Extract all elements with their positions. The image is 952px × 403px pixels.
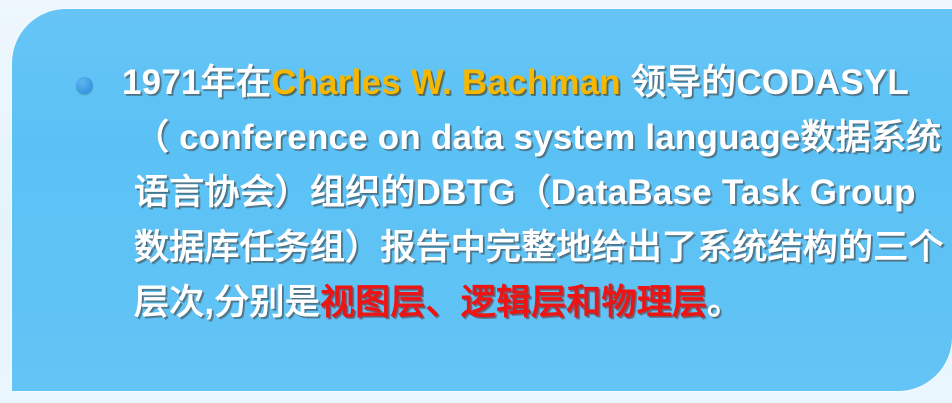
bullet-line-4: 数据库任务组）报告中完整地给出了系统结构的三个 bbox=[122, 220, 928, 275]
bullet-line-3: 语言协会）组织的DBTG（DataBase Task Group bbox=[122, 165, 928, 220]
bullet-line-5: 层次,分别是视图层、逻辑层和物理层。 bbox=[122, 275, 928, 330]
line-1-text-leading: 1971年在 bbox=[122, 63, 271, 102]
bullet-block: 1971年在Charles W. Bachman 领导的CODASYL （ co… bbox=[72, 55, 928, 330]
highlighted-person-name: Charles W. Bachman bbox=[271, 63, 621, 102]
line-5-text-leading: 层次,分别是 bbox=[134, 283, 320, 322]
slide-root: 1971年在Charles W. Bachman 领导的CODASYL （ co… bbox=[0, 0, 952, 403]
bullet-line-1: 1971年在Charles W. Bachman 领导的CODASYL bbox=[122, 55, 928, 110]
highlighted-key-terms: 视图层、逻辑层和物理层 bbox=[320, 283, 707, 322]
round-bullet-icon bbox=[76, 77, 93, 94]
content-card: 1971年在Charles W. Bachman 领导的CODASYL （ co… bbox=[12, 9, 952, 391]
bullet-line-2: （ conference on data system language数据系统 bbox=[122, 110, 928, 165]
line-5-period: 。 bbox=[707, 283, 742, 322]
bullet-paragraph: 1971年在Charles W. Bachman 领导的CODASYL （ co… bbox=[72, 55, 928, 330]
line-1-text-trailing: 领导的CODASYL bbox=[621, 63, 909, 102]
